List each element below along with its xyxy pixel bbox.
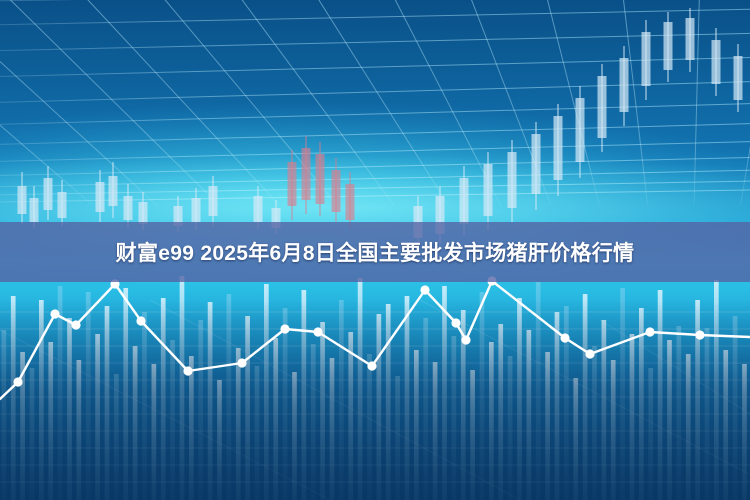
- price-marker: [645, 327, 654, 336]
- price-line-markers: [13, 276, 704, 386]
- price-marker: [420, 285, 429, 294]
- price-marker: [560, 333, 569, 342]
- price-marker: [585, 349, 594, 358]
- price-marker: [71, 320, 80, 329]
- price-marker: [280, 324, 289, 333]
- price-marker: [313, 327, 322, 336]
- price-marker: [13, 377, 22, 386]
- price-marker: [451, 318, 460, 327]
- price-marker: [183, 366, 192, 375]
- price-marker: [237, 358, 246, 367]
- price-marker: [695, 330, 704, 339]
- banner-image: 财富e99 2025年6月8日全国主要批发市场猪肝价格行情: [0, 0, 750, 500]
- price-marker: [367, 361, 376, 370]
- title-banner: 财富e99 2025年6月8日全国主要批发市场猪肝价格行情: [0, 222, 750, 282]
- price-marker: [136, 316, 145, 325]
- price-marker: [50, 309, 59, 318]
- price-marker: [461, 335, 470, 344]
- price-line: [0, 281, 750, 399]
- banner-title-text: 财富e99 2025年6月8日全国主要批发市场猪肝价格行情: [116, 237, 635, 267]
